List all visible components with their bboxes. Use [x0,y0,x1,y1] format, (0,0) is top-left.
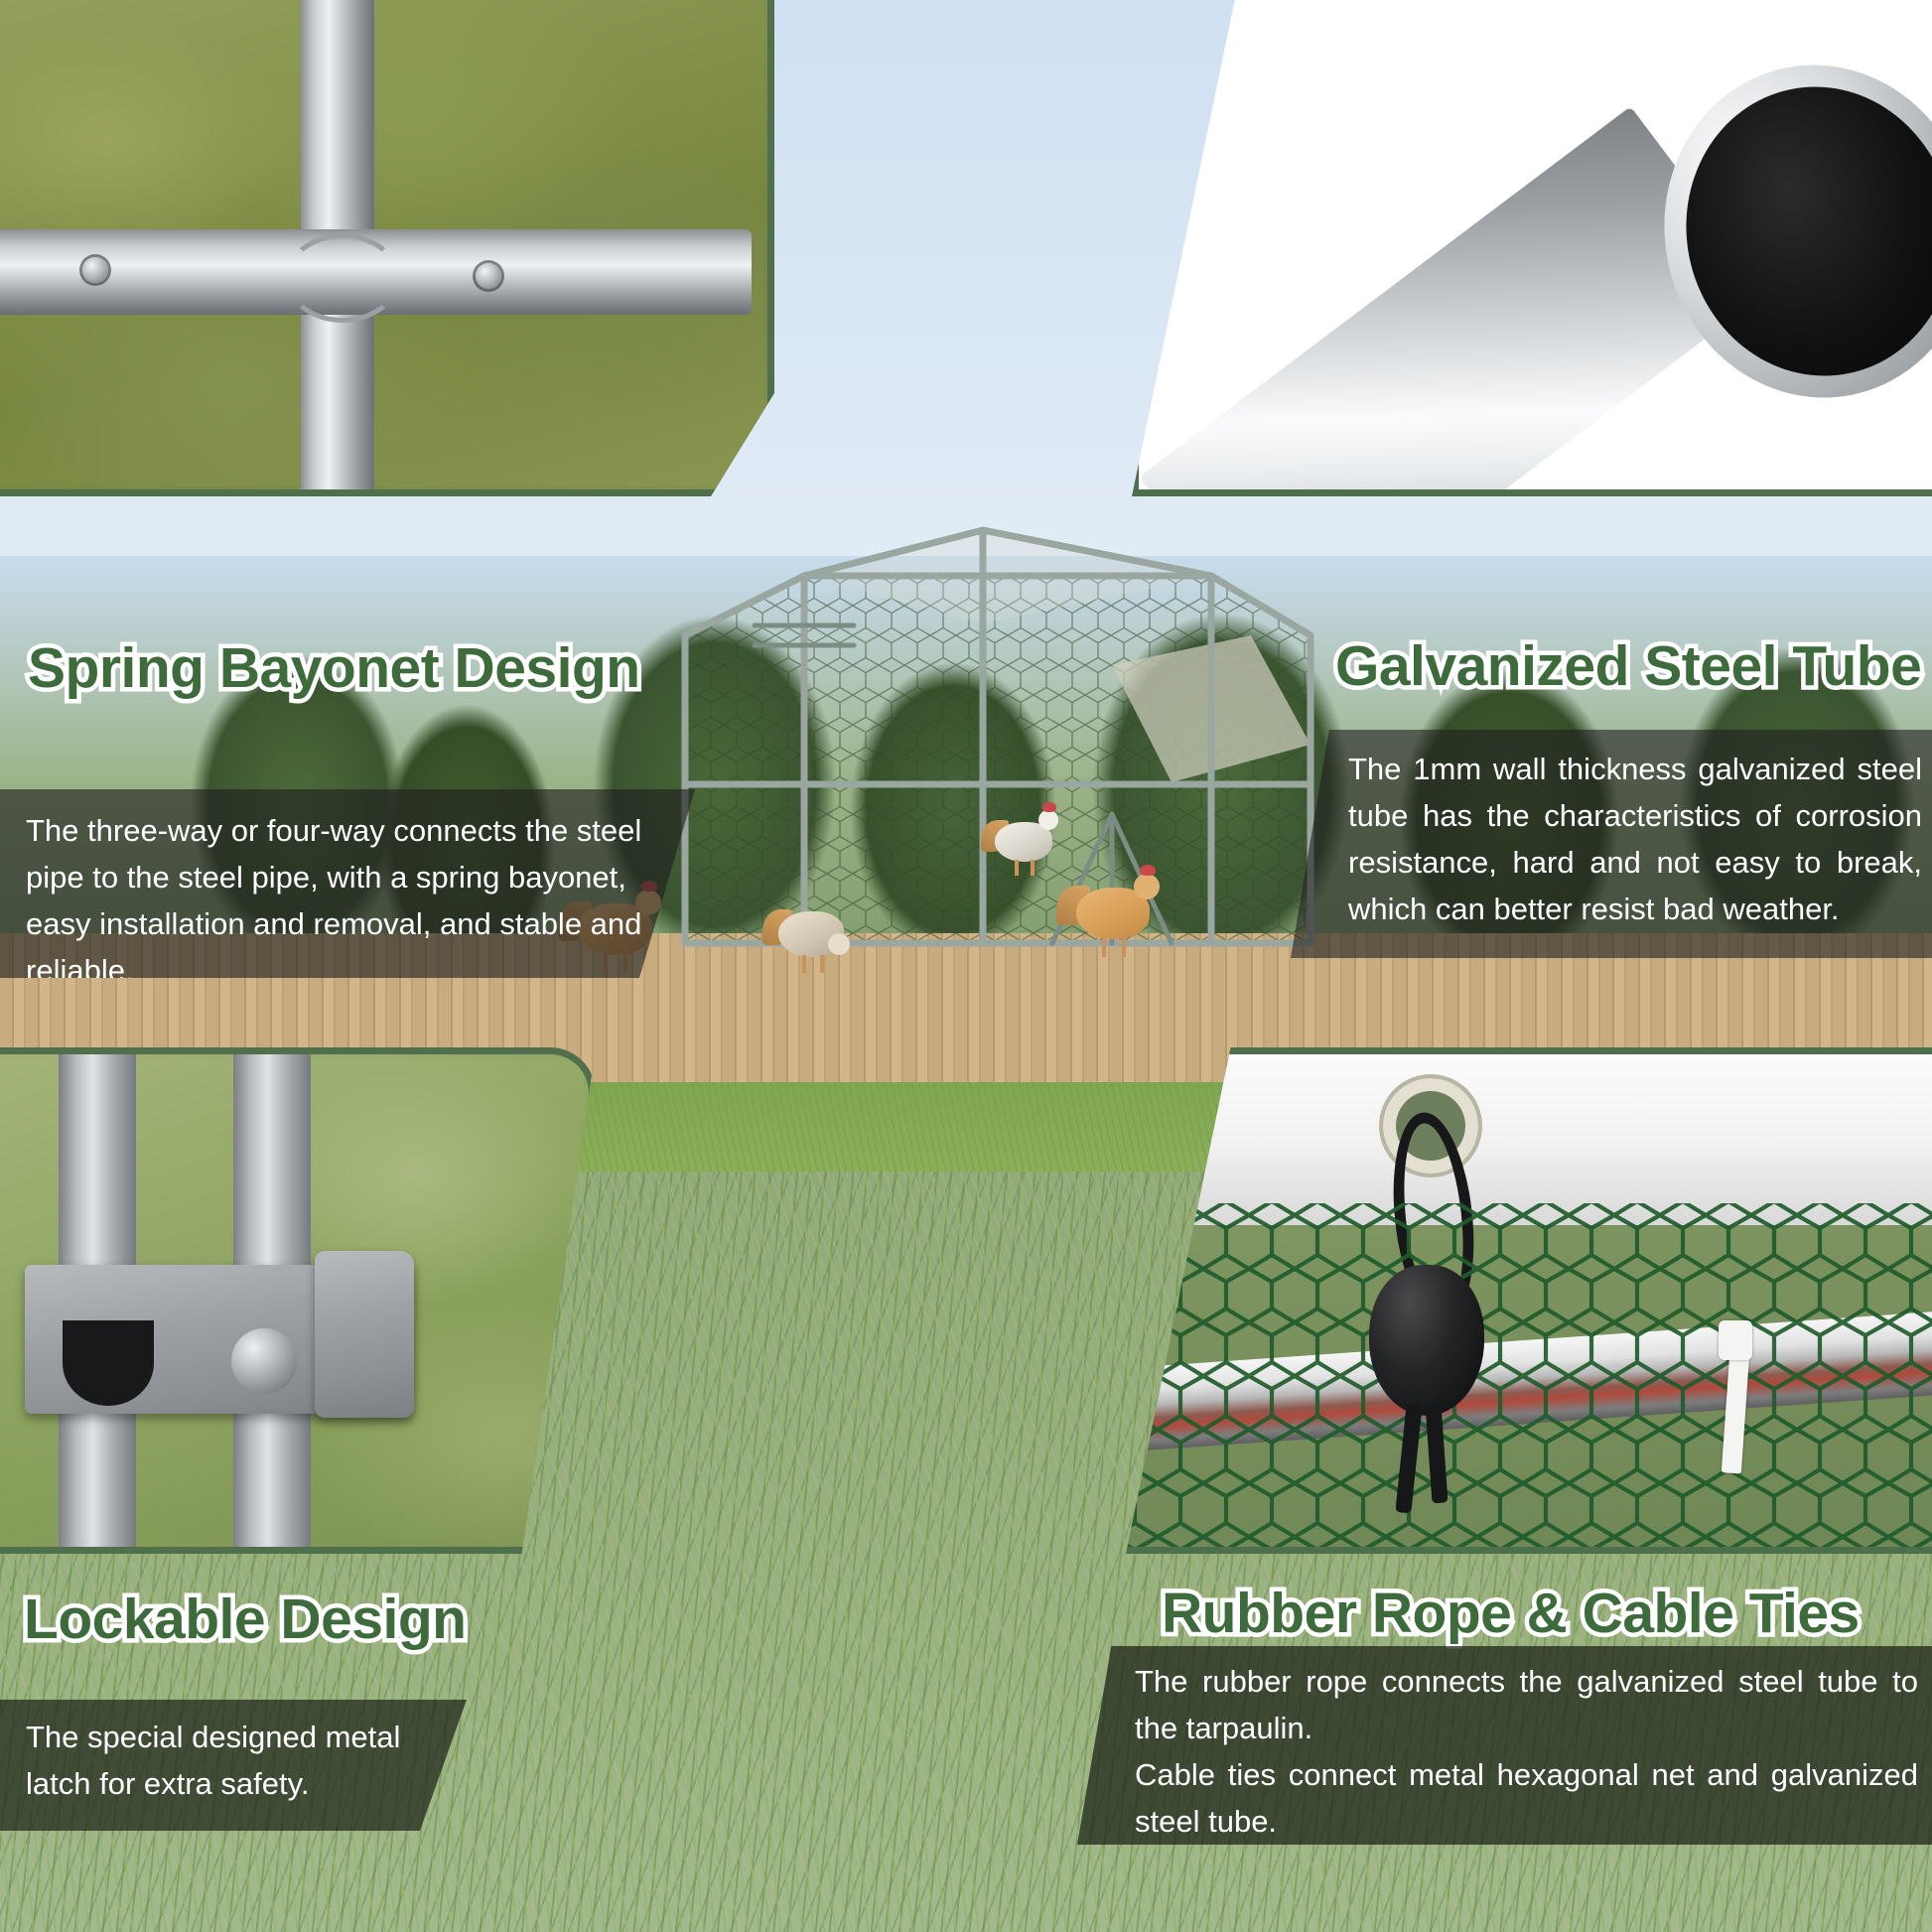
feature-panel-galvanized-steel-tube [1132,0,1932,496]
feature-description-band-lockable-design: The special designed metal latch for ext… [0,1700,467,1831]
cable-tie-head [1719,1320,1752,1360]
rubber-rope-ball [1369,1265,1484,1416]
spring-bayonet-photo [0,0,767,489]
feature-description-band-spring-bayonet: The three-way or four-way connects the s… [0,789,695,978]
feature-description-band-rubber-rope-cable-ties: The rubber rope connects the galvanized … [1077,1646,1932,1845]
feature-title-rubber-rope-cable-ties: Rubber Rope & Cable Ties [1162,1581,1860,1646]
infographic-canvas: Spring Bayonet Design Galvanized Steel T… [0,0,1932,1932]
rubber-rope-photo [1089,1054,1932,1547]
feature-description-lockable-design: The special designed metal latch for ext… [26,1714,439,1807]
feature-panel-lockable-design [0,1047,596,1554]
feature-description-galvanized-steel-tube: The 1mm wall thickness galvanized steel … [1348,746,1922,932]
steel-tube-photo [1139,0,1932,489]
feature-description-spring-bayonet: The three-way or four-way connects the s… [26,807,659,994]
feature-title-lockable-design: Lockable Design [24,1587,466,1652]
feature-description-rubber-rope-line2: Cable ties connect metal hexagonal net a… [1135,1751,1918,1845]
metal-latch-photo [0,1054,589,1547]
feature-panel-spring-bayonet [0,0,774,496]
center-product-photo [556,516,1410,1013]
feature-title-galvanized-steel-tube: Galvanized Steel Tube [1335,633,1921,699]
feature-title-spring-bayonet: Spring Bayonet Design [28,635,640,701]
feature-description-band-galvanized-steel-tube: The 1mm wall thickness galvanized steel … [1291,730,1932,958]
feature-description-rubber-rope-line1: The rubber rope connects the galvanized … [1135,1658,1918,1751]
